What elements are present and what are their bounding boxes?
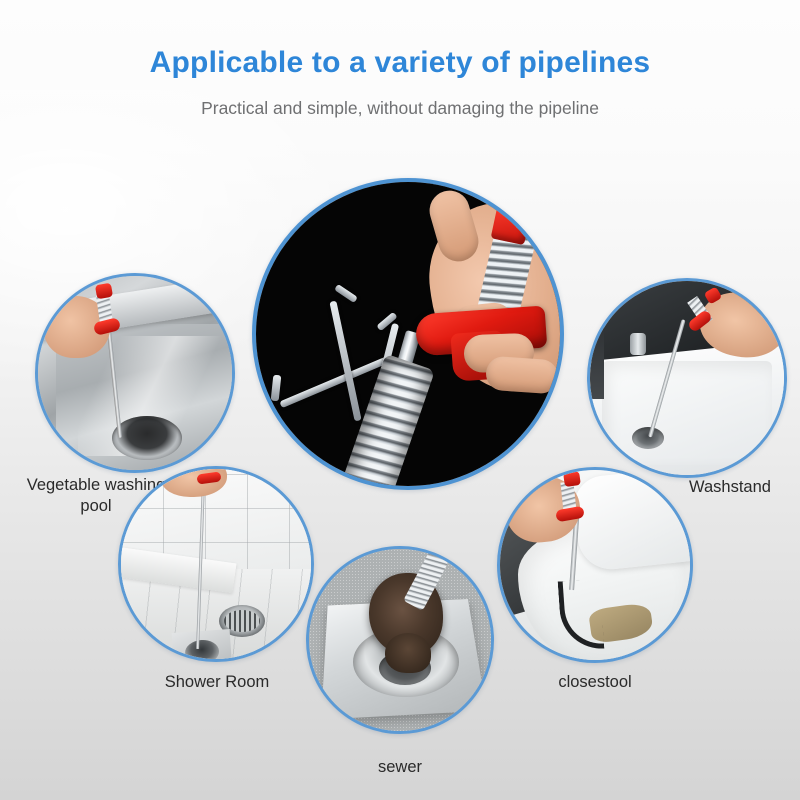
circle-vegetable-washing-pool bbox=[35, 273, 235, 473]
dark-counter-side bbox=[587, 307, 604, 399]
basin-bowl bbox=[602, 361, 772, 465]
faucet bbox=[630, 333, 646, 355]
hair-clog-lower bbox=[385, 633, 431, 673]
handle-cap bbox=[95, 283, 113, 300]
photo-sewer bbox=[309, 549, 491, 731]
sink-drain bbox=[112, 416, 182, 460]
circle-sewer bbox=[306, 546, 494, 734]
circle-shower-room bbox=[118, 466, 314, 662]
claw-prong-2-tip-icon bbox=[334, 284, 358, 303]
handle-cap bbox=[563, 471, 581, 487]
toilet-seat bbox=[571, 467, 693, 573]
header: Applicable to a variety of pipelines Pra… bbox=[0, 0, 800, 119]
label-shower-room: Shower Room bbox=[122, 672, 312, 693]
page-subtitle: Practical and simple, without damaging t… bbox=[0, 98, 800, 119]
basin-drain bbox=[632, 427, 664, 449]
label-sewer: sewer bbox=[310, 757, 490, 778]
circle-product-closeup bbox=[252, 178, 564, 490]
photo-product-closeup bbox=[256, 182, 560, 486]
circle-closestool bbox=[497, 467, 693, 663]
circle-washstand bbox=[587, 278, 787, 478]
page-title: Applicable to a variety of pipelines bbox=[0, 46, 800, 80]
photo-washstand bbox=[590, 281, 784, 475]
label-closestool: closestool bbox=[500, 672, 690, 693]
square-floor-drain bbox=[172, 629, 233, 662]
finger-pinky bbox=[485, 356, 559, 395]
claw-prong-1-tip-icon bbox=[271, 375, 282, 402]
claw-prong-2-icon bbox=[329, 301, 361, 422]
photo-closestool bbox=[500, 470, 690, 660]
photo-shower-room bbox=[121, 469, 311, 659]
photo-vegetable-washing-pool bbox=[38, 276, 232, 470]
